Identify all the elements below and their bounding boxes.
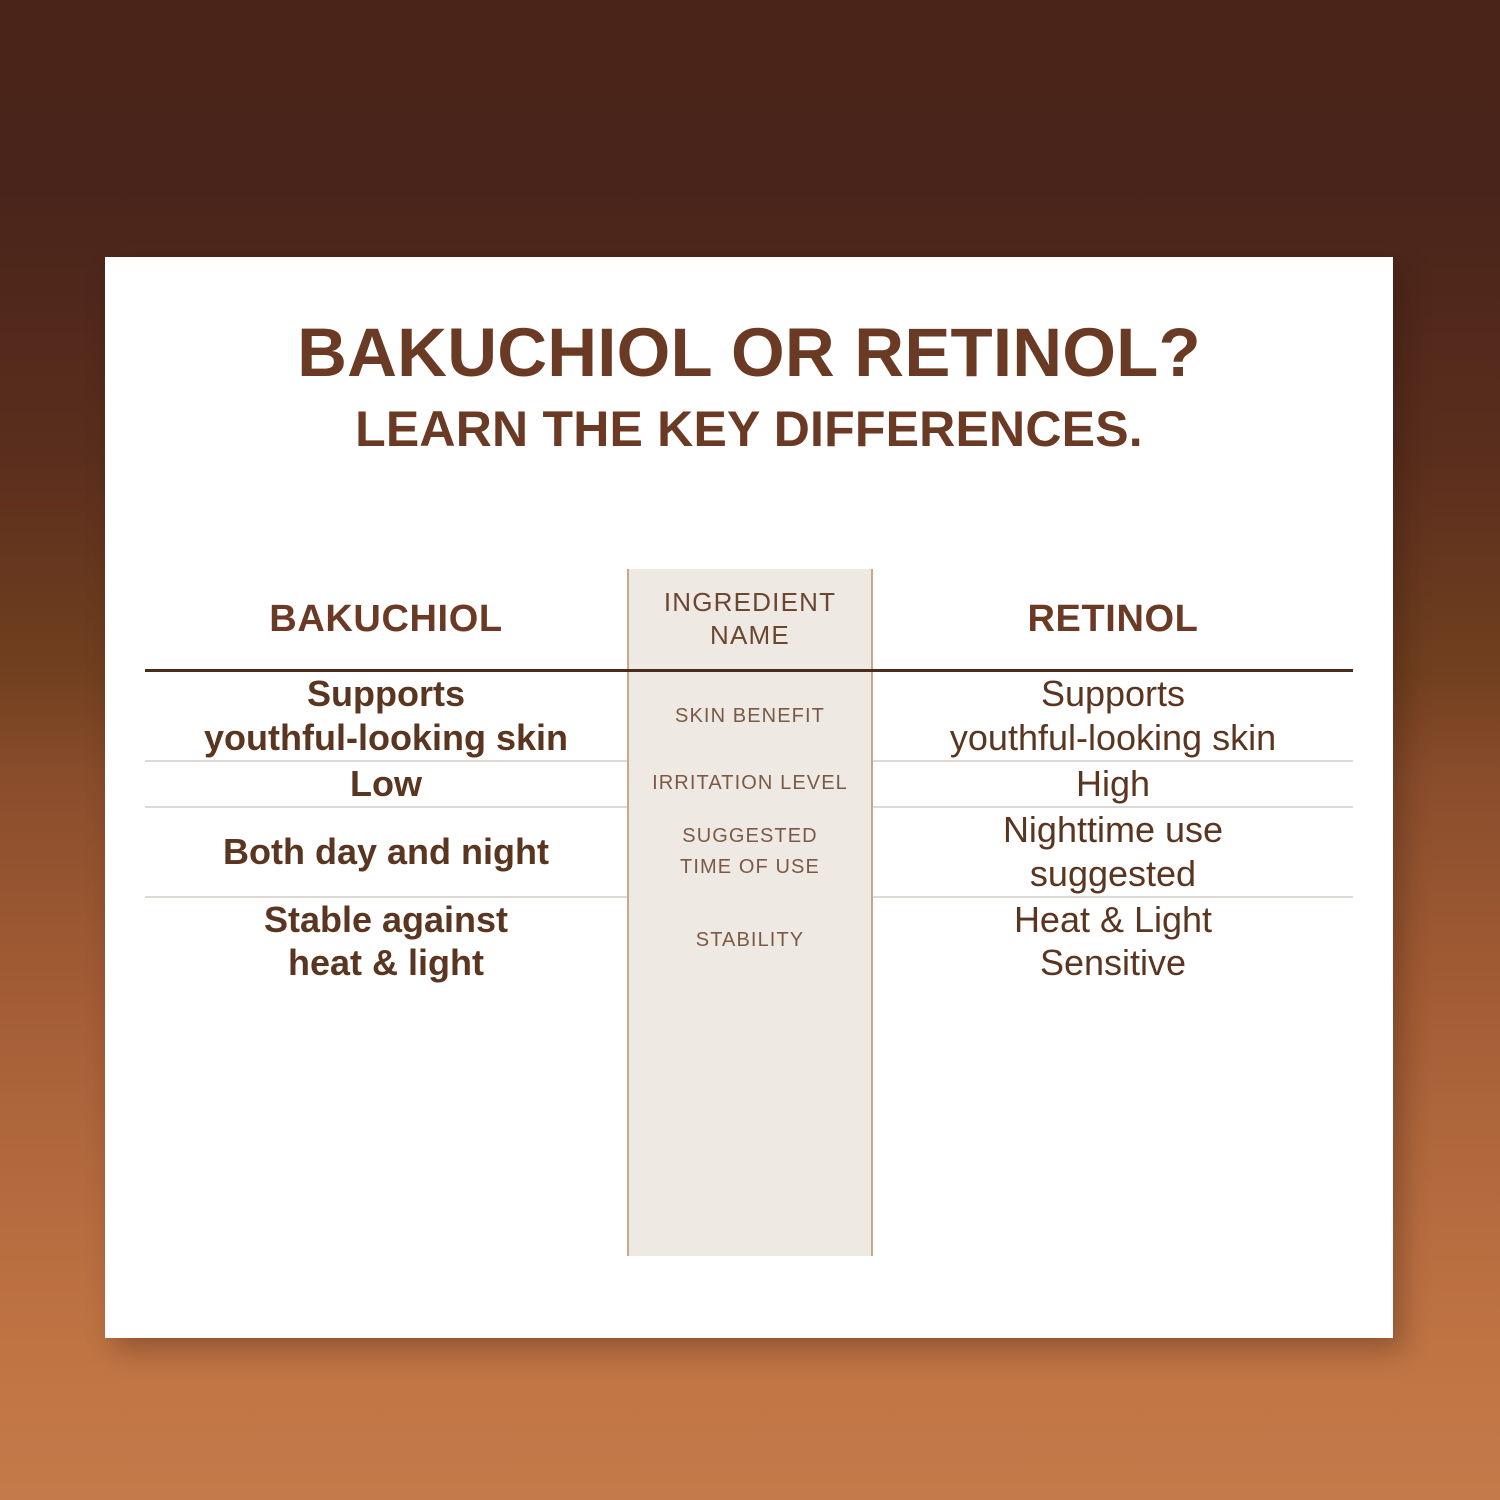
- cell-attribute-suggested-time-of-use: SUGGESTEDTIME OF USE: [627, 807, 873, 897]
- cell-attribute-stability: STABILITY: [627, 897, 873, 986]
- column-header-retinol: RETINOL: [873, 569, 1353, 671]
- page-title: BAKUCHIOL OR RETINOL?: [105, 317, 1393, 389]
- table-body: Supportsyouthful-looking skin SKIN BENEF…: [145, 671, 1353, 986]
- table-row: Both day and night SUGGESTEDTIME OF USE …: [145, 807, 1353, 897]
- cell-retinol-skin-benefit: Supportsyouthful-looking skin: [873, 671, 1353, 761]
- table-row: Low IRRITATION LEVEL High: [145, 761, 1353, 807]
- table-row: Supportsyouthful-looking skin SKIN BENEF…: [145, 671, 1353, 761]
- comparison-table-wrap: BAKUCHIOL INGREDIENT NAME RETINOL Suppor…: [145, 569, 1353, 1269]
- column-header-bakuchiol: BAKUCHIOL: [145, 569, 627, 671]
- table-header-row: BAKUCHIOL INGREDIENT NAME RETINOL: [145, 569, 1353, 671]
- column-header-ingredient-name: INGREDIENT NAME: [627, 569, 873, 671]
- heading-block: BAKUCHIOL OR RETINOL? LEARN THE KEY DIFF…: [105, 317, 1393, 455]
- cell-bakuchiol-irritation-level: Low: [145, 761, 627, 807]
- comparison-table: BAKUCHIOL INGREDIENT NAME RETINOL Suppor…: [145, 569, 1353, 985]
- infographic-card: BAKUCHIOL OR RETINOL? LEARN THE KEY DIFF…: [105, 257, 1393, 1338]
- page-backdrop: BAKUCHIOL OR RETINOL? LEARN THE KEY DIFF…: [0, 0, 1500, 1500]
- cell-attribute-skin-benefit: SKIN BENEFIT: [627, 671, 873, 761]
- cell-retinol-stability: Heat & LightSensitive: [873, 897, 1353, 986]
- cell-bakuchiol-suggested-time-of-use: Both day and night: [145, 807, 627, 897]
- cell-retinol-irritation-level: High: [873, 761, 1353, 807]
- cell-attribute-irritation-level: IRRITATION LEVEL: [627, 761, 873, 807]
- cell-retinol-suggested-time-of-use: Nighttime usesuggested: [873, 807, 1353, 897]
- table-row: Stable againstheat & light STABILITY Hea…: [145, 897, 1353, 986]
- page-subtitle: LEARN THE KEY DIFFERENCES.: [105, 403, 1393, 456]
- cell-bakuchiol-skin-benefit: Supportsyouthful-looking skin: [145, 671, 627, 761]
- table-header: BAKUCHIOL INGREDIENT NAME RETINOL: [145, 569, 1353, 671]
- cell-bakuchiol-stability: Stable againstheat & light: [145, 897, 627, 986]
